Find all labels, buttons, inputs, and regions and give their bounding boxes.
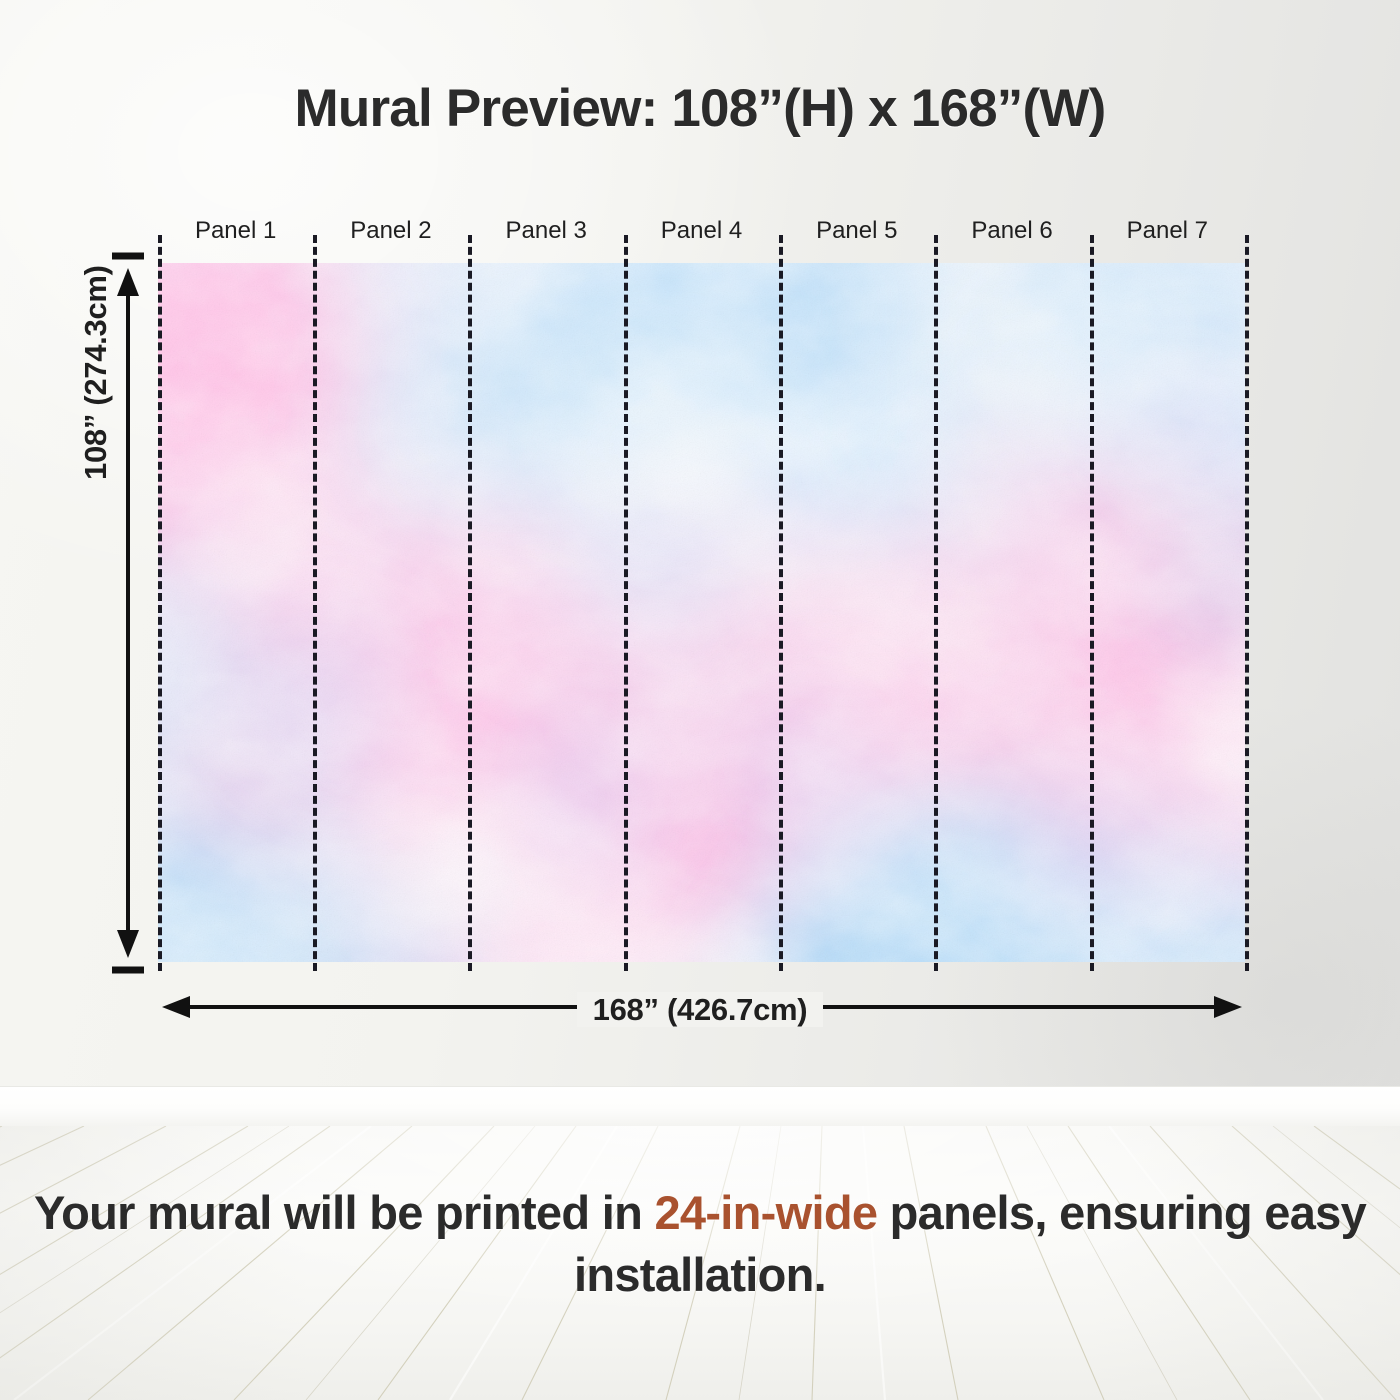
panel-label-3: Panel 3 <box>469 214 624 248</box>
width-dimension-arrow <box>156 986 1248 1028</box>
baseboard <box>0 1086 1400 1126</box>
mural-preview-scene: Mural Preview: 108”(H) x 168”(W) Panel 1… <box>0 0 1400 1400</box>
panel-divider-5 <box>934 235 938 971</box>
mural-artwork <box>158 263 1245 962</box>
panel-divider-left-edge <box>158 235 162 971</box>
height-dimension-label: 108” (274.3cm) <box>78 265 114 480</box>
panel-label-1: Panel 1 <box>158 214 313 248</box>
caption-highlight: 24-in-wide <box>654 1186 877 1239</box>
panel-label-row: Panel 1 Panel 2 Panel 3 Panel 4 Panel 5 … <box>158 214 1245 248</box>
page-title: Mural Preview: 108”(H) x 168”(W) <box>0 78 1400 139</box>
panel-divider-6 <box>1090 235 1094 971</box>
caption-lead: Your mural will be printed in <box>34 1186 655 1239</box>
panel-label-5: Panel 5 <box>779 214 934 248</box>
panel-divider-1 <box>313 235 317 971</box>
panel-divider-2 <box>468 235 472 971</box>
panel-label-6: Panel 6 <box>934 214 1089 248</box>
panel-label-7: Panel 7 <box>1090 214 1245 248</box>
panel-divider-3 <box>624 235 628 971</box>
mural-art-canvas <box>158 263 1245 962</box>
panel-divider-right-edge <box>1245 235 1249 971</box>
panel-label-4: Panel 4 <box>624 214 779 248</box>
panel-divider-4 <box>779 235 783 971</box>
panel-label-2: Panel 2 <box>313 214 468 248</box>
caption: Your mural will be printed in 24-in-wide… <box>0 1182 1400 1306</box>
